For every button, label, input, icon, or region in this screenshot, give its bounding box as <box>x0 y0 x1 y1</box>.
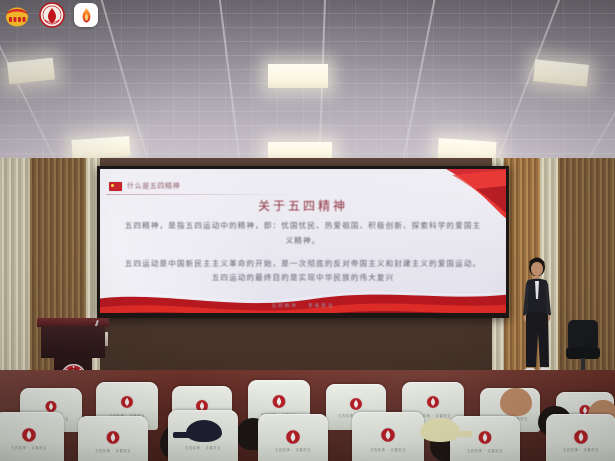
cap-brim <box>173 432 189 438</box>
curtain <box>0 158 30 403</box>
slide-section-tab: 什么是五四精神 <box>109 181 180 191</box>
office-chair <box>566 320 600 372</box>
chair-cover: 五四精神 · 青春担当 <box>450 416 520 461</box>
chair-cover-text: 五四精神 · 青春担当 <box>275 447 311 452</box>
chair-cover: 五四精神 · 青春担当 <box>352 412 424 461</box>
slide-tab-label: 什么是五四精神 <box>127 181 180 191</box>
slide-footer-note: 五四精神 · 青春担当 <box>100 303 506 309</box>
slide-title: 关于五四精神 <box>100 197 506 214</box>
chair-cover-text: 五四精神 · 青春担当 <box>95 448 131 453</box>
photo-canvas: 什么是五四精神 关于五四精神 五四精神，是指五四运动中的精神，即：忧国忧民、热爱… <box>0 0 615 461</box>
red-flag-icon <box>109 182 122 191</box>
chair-cover-emblem <box>272 394 287 414</box>
chair-cover-emblem <box>380 427 396 448</box>
chair-cover-emblem <box>106 430 121 450</box>
chair-cover: 五四精神 · 青春担当 <box>258 414 328 461</box>
audience-area: 五四精神 · 青春担当五四精神 · 青春担当五四精神 · 青春担当五四精神 · … <box>0 372 615 461</box>
chair-cover-emblem <box>478 430 493 450</box>
podium-body <box>41 326 105 358</box>
slide-paragraph-2: 五四运动是中国新民主主义革命的开始，是一次彻底的反对帝国主义和封建主义的爱国运动… <box>122 257 484 287</box>
chair-cover: 五四精神 · 青春担当 <box>0 412 64 461</box>
cap-brim <box>454 431 472 437</box>
party-emblem-badge-icon[interactable] <box>4 2 30 28</box>
slide-paragraph-1: 五四精神，是指五四运动中的精神，即：忧国忧民、热爱祖国、积极创新、探索科学的爱国… <box>122 219 484 249</box>
chair-cover-text: 五四精神 · 青春担当 <box>370 447 406 452</box>
audience-head <box>500 388 532 416</box>
slide-content: 什么是五四精神 关于五四精神 五四精神，是指五四运动中的精神，即：忧国忧民、热爱… <box>100 169 506 313</box>
chair-cover-text: 五四精神 · 青春担当 <box>185 445 221 450</box>
slide-body: 五四精神，是指五四运动中的精神，即：忧国忧民、热爱祖国、积极创新、探索科学的爱国… <box>122 219 484 294</box>
beige-cap-icon <box>420 418 460 442</box>
overlay-icon-bar <box>4 2 98 28</box>
slide-tab-divider <box>106 194 291 195</box>
projection-screen: 什么是五四精神 关于五四精神 五四精神，是指五四运动中的精神，即：忧国忧民、热爱… <box>97 166 509 318</box>
speaker-person <box>514 255 560 383</box>
navy-cap-icon <box>186 420 222 442</box>
chair-cover-text: 五四精神 · 青春担当 <box>563 447 599 452</box>
youth-league-seal-icon[interactable] <box>39 2 65 28</box>
chair-cover-text: 五四精神 · 青春担当 <box>11 445 47 450</box>
chair-cover-text: 五四精神 · 青春担当 <box>467 448 503 453</box>
flame-app-icon[interactable] <box>74 3 98 27</box>
chair-cover: 五四精神 · 青春担当 <box>78 416 148 461</box>
chair-cover: 五四精神 · 青春担当 <box>546 414 615 461</box>
chair-cover-emblem <box>120 395 134 414</box>
chair-cover-emblem <box>426 395 440 414</box>
